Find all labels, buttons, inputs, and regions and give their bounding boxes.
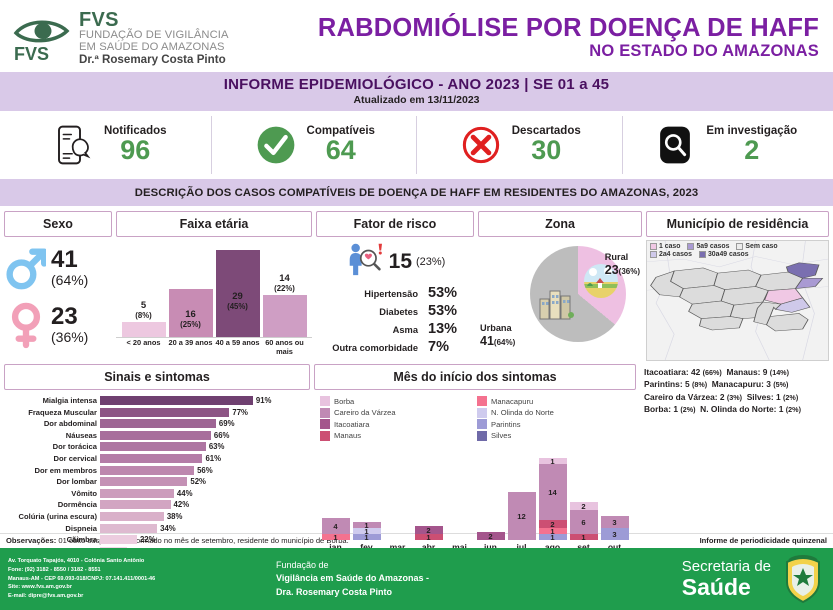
faixa-bar-column: 29(45%)	[216, 240, 260, 337]
stats-row: Notificados 96 Compatíveis 64	[0, 111, 833, 179]
section-bar-text: DESCRIÇÃO DOS CASOS COMPATÍVEIS DE DOENÇ…	[135, 187, 699, 199]
panel-fator-risco: Fator de risco 15 (	[316, 211, 474, 361]
panel-sintomas-title: Sinais e sintomas	[104, 370, 210, 384]
sintoma-row: Dor torácica63%	[4, 441, 308, 452]
fator-item-value: 13%	[428, 321, 470, 337]
fator-item: Hipertensão53%	[320, 285, 470, 301]
faixa-bar-percent: (22%)	[263, 284, 307, 293]
municipio-total-percent: (8%)	[692, 380, 707, 389]
faixa-bar: 29(45%)	[216, 250, 260, 337]
legend-swatch	[650, 251, 657, 258]
faixa-bar-value: 14	[263, 273, 307, 284]
mes-bar-segment: 12	[508, 492, 536, 540]
sintoma-value: 38%	[167, 512, 183, 521]
male-symbol-icon	[4, 242, 48, 294]
legend-label: Manacapuru	[491, 397, 533, 406]
sintoma-value: 34%	[160, 524, 176, 533]
fator-item-value: 53%	[428, 303, 470, 319]
mes-legend-item: Manaus	[320, 431, 477, 441]
sintoma-bar	[100, 454, 202, 463]
panel-faixa-etaria: Faixa etária 5(8%)16(25%)29(45%)14(22%) …	[116, 211, 312, 361]
sintoma-value: 52%	[190, 477, 206, 486]
municipio-total-item: Borba: 1 (2%)	[644, 404, 696, 414]
panel-municipio-body: 1 caso5a9 casosSem caso2a4 casos30a49 ca…	[646, 240, 829, 361]
panel-mes-title: Mês do início dos sintomas	[393, 370, 556, 384]
faixa-bar: 14(22%)	[263, 295, 307, 337]
sintoma-value: 91%	[256, 396, 272, 405]
panel-fator-header: Fator de risco	[316, 211, 474, 237]
zona-rural-label: Rural 23(36%)	[605, 252, 640, 278]
sintoma-bar	[100, 466, 194, 475]
map-legend: 1 caso5a9 casosSem caso2a4 casos30a49 ca…	[650, 243, 825, 259]
stat-compativeis: Compatíveis 64	[212, 116, 418, 174]
municipio-total-percent: (66%)	[703, 368, 722, 377]
zona-chart: Rural 23(36%) Urbana 41(64%)	[478, 240, 642, 361]
mes-bar-segment: 1	[539, 534, 567, 540]
sintoma-label: Dor em membros	[4, 466, 100, 475]
municipio-total-item: Parintins: 5 (8%)	[644, 379, 707, 389]
sintoma-value: 22%	[140, 535, 156, 544]
footer-address: Av. Torquato Tapajós, 4010 - Colônia San…	[8, 557, 258, 600]
sintoma-value: 66%	[214, 431, 230, 440]
faixa-bar-column: 16(25%)	[169, 240, 213, 337]
legend-swatch	[477, 419, 487, 429]
faixa-bar-percent: (8%)	[122, 311, 166, 320]
panel-sintomas-header: Sinais e sintomas	[4, 364, 310, 390]
municipio-map: 1 caso5a9 casosSem caso2a4 casos30a49 ca…	[646, 240, 829, 361]
sintoma-label: Mialgia intensa	[4, 396, 100, 405]
informe-updated: Atualizado em 13/11/2023	[0, 94, 833, 106]
mes-bar-segment: 1	[322, 534, 350, 540]
map-legend-item: 30a49 casos	[699, 251, 749, 258]
secretaria-logo: Secretaria de Saúde	[682, 559, 781, 599]
sintoma-row: Dor cervical61%	[4, 453, 308, 464]
municipio-total-item: N. Olinda do Norte: 1 (2%)	[700, 404, 801, 414]
footer-org: Fundação de Vigilância em Saúde do Amazo…	[258, 559, 682, 600]
legend-label: 2a4 casos	[659, 251, 692, 258]
faixa-bar-value: 16	[169, 309, 213, 320]
sintoma-label: Colúria (urina escura)	[4, 512, 100, 521]
sintoma-row: Dormência42%	[4, 499, 308, 510]
legend-label: N. Olinda do Norte	[491, 408, 554, 417]
sintoma-value: 77%	[232, 408, 248, 417]
sintoma-row: Fraqueza Muscular77%	[4, 407, 308, 418]
panel-faixa-header: Faixa etária	[116, 211, 312, 237]
mes-bar-segment: 3	[601, 528, 629, 540]
faixa-bar: 16(25%)	[169, 289, 213, 337]
legend-label: 30a49 casos	[708, 251, 749, 258]
fvs-line3: Dr.ª Rosemary Costa Pinto	[79, 54, 229, 66]
sintoma-value: 69%	[219, 419, 235, 428]
fator-item-value: 53%	[428, 285, 470, 301]
panel-fator-title: Fator de risco	[354, 217, 437, 231]
sintoma-bar	[100, 512, 164, 521]
fator-item-name: Outra comorbidade	[332, 343, 418, 353]
panel-mes-header: Mês do início dos sintomas	[314, 364, 636, 390]
sexo-male-count: 41	[51, 248, 88, 272]
fator-total-percent: (23%)	[416, 256, 445, 268]
sexo-female-percent: (36%)	[51, 329, 88, 345]
sintoma-label: Náuseas	[4, 431, 100, 440]
municipio-total-percent: (2%)	[783, 393, 798, 402]
legend-swatch	[477, 396, 487, 406]
sexo-female-count: 23	[51, 305, 88, 329]
legend-swatch	[320, 396, 330, 406]
sexo-male-percent: (64%)	[51, 272, 88, 288]
footer-org-line1: Fundação de	[276, 559, 682, 573]
risk-person-icon	[345, 242, 385, 281]
faixa-axis-label: 40 a 59 anos	[214, 339, 261, 356]
sintoma-label: Cãimbra	[4, 535, 100, 544]
panel-municipio-header: Município de residência	[646, 211, 829, 237]
informe-bar: INFORME EPIDEMIOLÓGICO - ANO 2023 | SE 0…	[0, 72, 833, 111]
legend-label: Careiro da Várzea	[334, 408, 396, 417]
check-circle-icon	[253, 122, 299, 168]
zona-rural-count: 23	[605, 263, 619, 277]
sintoma-bar	[100, 431, 211, 440]
stat-notificados: Notificados 96	[6, 116, 212, 174]
stat-em-investigacao: Em investigação 2	[623, 116, 828, 174]
municipio-total-line: Itacoatiara: 42 (66%) Manaus: 9 (14%)	[644, 366, 827, 378]
panel-sexo: Sexo 41 (64%)	[4, 211, 112, 361]
sintoma-label: Dor abdominal	[4, 419, 100, 428]
fator-item: Asma13%	[320, 321, 470, 337]
map-legend-item: 2a4 casos	[650, 251, 692, 258]
footer-address-line: Site: www.fvs.am.gov.br	[8, 583, 258, 592]
page-footer: Av. Torquato Tapajós, 4010 - Colônia San…	[0, 548, 833, 610]
mes-bar-column: 33	[601, 442, 629, 540]
mes-bar-segment: 14	[539, 464, 567, 520]
fator-item-value: 7%	[428, 339, 470, 355]
faixa-bars: 5(8%)16(25%)29(45%)14(22%)	[116, 240, 312, 338]
footer-org-line2: Vigilância em Saúde do Amazonas -	[276, 573, 429, 583]
sintoma-bar	[100, 489, 174, 498]
sintoma-row: Dor em membros56%	[4, 465, 308, 476]
sintoma-value: 42%	[174, 500, 190, 509]
sintoma-value: 63%	[209, 442, 225, 451]
municipio-total-item: Manaus: 9 (14%)	[727, 367, 789, 377]
mes-bar-column: 111	[353, 442, 381, 540]
zona-urbana-percent: (64%)	[494, 338, 515, 347]
map-legend-item: 5a9 casos	[687, 243, 729, 250]
footer-address-line: Manaus-AM - CEP 69.093-018/CNPJ: 07.141.…	[8, 575, 258, 584]
stat-value: 96	[104, 137, 167, 165]
panel-sintomas: Sinais e sintomas Mialgia intensa91%Fraq…	[4, 364, 310, 533]
panels-row-1: Sexo 41 (64%)	[0, 206, 833, 361]
periodicidade-text: Informe de periodicidade quinzenal	[700, 536, 827, 545]
sintoma-bar	[100, 396, 253, 405]
municipio-total-percent: (2%)	[680, 405, 695, 414]
fvs-logo-text: FVS FUNDAÇÃO DE VIGILÂNCIA EM SAÚDE DO A…	[79, 10, 229, 66]
legend-label: 1 caso	[659, 243, 680, 250]
panel-faixa-title: Faixa etária	[180, 217, 249, 231]
fvs-line2: EM SAÚDE DO AMAZONAS	[79, 42, 229, 53]
mes-bar-column	[384, 442, 412, 540]
legend-label: Manaus	[334, 431, 361, 440]
secretaria-line2: Saúde	[682, 575, 771, 599]
sintoma-label: Dor lombar	[4, 477, 100, 486]
mes-bar-column	[446, 442, 474, 540]
legend-swatch	[477, 408, 487, 418]
sintoma-label: Dor cervical	[4, 454, 100, 463]
municipio-total-percent: (2%)	[786, 405, 801, 414]
fator-item: Outra comorbidade7%	[320, 339, 470, 355]
map-legend-item: 1 caso	[650, 243, 680, 250]
footer-address-line: E-mail: dipre@fvs.am.gov.br	[8, 592, 258, 601]
svg-text:FVS: FVS	[14, 44, 49, 64]
fator-item-name: Asma	[393, 325, 418, 335]
mes-legend-item: Itacoatiara	[320, 419, 477, 429]
panel-municipio-title: Município de residência	[667, 217, 809, 231]
sexo-female-row: 23 (36%)	[4, 297, 112, 354]
mes-bar-column: 12	[508, 442, 536, 540]
faixa-bar-value: 29	[216, 291, 260, 302]
sintoma-value: 56%	[197, 466, 213, 475]
legend-label: Itacoatiara	[334, 420, 369, 429]
legend-label: Parintins	[491, 420, 521, 429]
mes-legend-item: Careiro da Várzea	[320, 408, 477, 418]
mes-bar-segment: 1	[415, 534, 443, 540]
infographic-page: FVS FVS FUNDAÇÃO DE VIGILÂNCIA EM SAÚDE …	[0, 0, 833, 586]
legend-label: Borba	[334, 397, 354, 406]
informe-title: INFORME EPIDEMIOLÓGICO - ANO 2023 | SE 0…	[0, 76, 833, 93]
faixa-axis-label: 20 a 39 anos	[167, 339, 214, 356]
sintoma-row: Náuseas66%	[4, 430, 308, 441]
sintoma-bar	[100, 419, 216, 428]
panel-zona-title: Zona	[545, 217, 575, 231]
municipio-total-line: Borba: 1 (2%) N. Olinda do Norte: 1 (2%)	[644, 403, 827, 415]
stat-descartados: Descartados 30	[417, 116, 623, 174]
mes-legend-item: Parintins	[477, 419, 634, 429]
panel-sexo-header: Sexo	[4, 211, 112, 237]
eye-logo-icon: FVS	[12, 12, 72, 64]
faixa-axis-labels: < 20 anos20 a 39 anos40 a 59 anos60 anos…	[116, 338, 312, 356]
mes-legend: BorbaManacapuruCareiro da VárzeaN. Olind…	[314, 393, 636, 442]
sintoma-value: 61%	[205, 454, 221, 463]
mes-bar-segment: 6	[570, 510, 598, 534]
footer-address-line: Fone: (92) 3182 - 8550 / 3182 - 8551	[8, 566, 258, 575]
municipio-total-percent: (14%)	[770, 368, 789, 377]
legend-swatch	[699, 251, 706, 258]
magnifier-icon	[652, 122, 698, 168]
municipio-total-item: Itacoatiara: 42 (66%)	[644, 367, 722, 377]
city-buildings-icon	[538, 285, 574, 321]
panel-mes-sintomas: Mês do início dos sintomas BorbaManacapu…	[314, 364, 636, 533]
fator-total-row: 15 (23%)	[316, 242, 474, 281]
stat-value: 64	[307, 137, 375, 165]
mes-bar-segment: 2	[570, 502, 598, 510]
sintoma-row: Dor lombar52%	[4, 476, 308, 487]
sintoma-label: Dispneia	[4, 524, 100, 533]
mes-bars: 411112121211421126133	[314, 442, 636, 540]
legend-label: Silves	[491, 431, 511, 440]
faixa-bar-column: 14(22%)	[263, 240, 307, 337]
panel-sexo-body: 41 (64%) 23 (36%)	[4, 240, 112, 361]
sintoma-row: Dispneia34%	[4, 523, 308, 534]
mes-bar-column: 2	[477, 442, 505, 540]
secretaria-line1: Secretaria de	[682, 559, 771, 575]
mes-legend-item: Borba	[320, 396, 477, 406]
legend-label: Sem caso	[745, 243, 777, 250]
amazonas-coat-of-arms-icon	[781, 554, 825, 604]
title-main: RABDOMIÓLISE POR DOENÇA DE HAFF	[229, 15, 819, 42]
stat-value: 30	[512, 137, 581, 165]
panel-zona: Zona	[478, 211, 642, 361]
female-symbol-icon	[4, 299, 48, 351]
faixa-chart: 5(8%)16(25%)29(45%)14(22%) < 20 anos20 a…	[116, 240, 312, 361]
municipio-total-line: Parintins: 5 (8%) Manacapuru: 3 (5%)	[644, 378, 827, 390]
fator-list: Hipertensão53%Diabetes53%Asma13%Outra co…	[316, 285, 474, 355]
mes-bar-segment: 1	[353, 534, 381, 540]
municipio-total-percent: (3%)	[727, 393, 742, 402]
mes-legend-item: N. Olinda do Norte	[477, 408, 634, 418]
phone-notification-icon	[50, 122, 96, 168]
legend-swatch	[650, 243, 657, 250]
footer-address-line: Av. Torquato Tapajós, 4010 - Colônia San…	[8, 557, 258, 566]
mes-bar-segment: 1	[570, 534, 598, 540]
faixa-bar-percent: (25%)	[169, 320, 213, 329]
sintoma-label: Vômito	[4, 489, 100, 498]
sintoma-value: 44%	[177, 489, 193, 498]
fator-item-name: Diabetes	[379, 307, 418, 317]
sintoma-bar	[100, 535, 137, 544]
panel-fator-body: 15 (23%) Hipertensão53%Diabetes53%Asma13…	[316, 240, 474, 361]
legend-swatch	[736, 243, 743, 250]
panel-municipio: Município de residência 1 caso5a9 casosS…	[646, 211, 829, 361]
sintoma-label: Dor torácica	[4, 442, 100, 451]
panels-row-2: Sinais e sintomas Mialgia intensa91%Fraq…	[0, 361, 833, 533]
sexo-male-row: 41 (64%)	[4, 240, 112, 297]
footer-org-line3: Dra. Rosemary Costa Pinto	[276, 587, 392, 597]
municipio-total-item: Manacapuru: 3 (5%)	[712, 379, 789, 389]
sintoma-row: Cãimbra22%	[4, 534, 308, 545]
fator-item-name: Hipertensão	[364, 289, 418, 299]
legend-swatch	[477, 431, 487, 441]
sintoma-bar	[100, 524, 157, 533]
legend-label: 5a9 casos	[696, 243, 729, 250]
faixa-bar: 5(8%)	[122, 322, 166, 337]
zona-urbana-count: 41	[480, 334, 494, 348]
title-sub: NO ESTADO DO AMAZONAS	[229, 42, 819, 61]
panel-mes-body: BorbaManacapuruCareiro da VárzeaN. Olind…	[314, 393, 636, 552]
stat-value: 2	[706, 137, 797, 165]
legend-swatch	[320, 419, 330, 429]
sintoma-label: Fraqueza Muscular	[4, 408, 100, 417]
municipio-total-percent: (5%)	[773, 380, 788, 389]
legend-swatch	[687, 243, 694, 250]
faixa-axis-label: 60 anos ou mais	[261, 339, 308, 356]
page-title: RABDOMIÓLISE POR DOENÇA DE HAFF NO ESTAD…	[229, 15, 823, 62]
legend-swatch	[320, 431, 330, 441]
municipio-total-item: Careiro da Várzea: 2 (3%)	[644, 392, 742, 402]
sintomas-chart: Mialgia intensa91%Fraqueza Muscular77%Do…	[4, 393, 310, 557]
fator-item: Diabetes53%	[320, 303, 470, 319]
mes-bar-column: 41	[322, 442, 350, 540]
sintoma-row: Dor abdominal69%	[4, 418, 308, 429]
mes-legend-item: Silves	[477, 431, 634, 441]
sintoma-bar	[100, 477, 187, 486]
page-header: FVS FVS FUNDAÇÃO DE VIGILÂNCIA EM SAÚDE …	[0, 0, 833, 72]
zona-urbana-label: Urbana 41(64%)	[480, 323, 515, 349]
map-legend-item: Sem caso	[736, 243, 777, 250]
municipio-total-item: Silves: 1 (2%)	[747, 392, 799, 402]
municipio-total-line: Careiro da Várzea: 2 (3%) Silves: 1 (2%)	[644, 391, 827, 403]
faixa-bar-value: 5	[122, 300, 166, 311]
mes-bar-segment: 2	[477, 532, 505, 540]
mes-bar-segment: 3	[601, 516, 629, 528]
fator-total-value: 15	[389, 250, 412, 274]
sintoma-bar	[100, 442, 206, 451]
mes-bar-column: 114211	[539, 442, 567, 540]
fvs-logo: FVS FVS FUNDAÇÃO DE VIGILÂNCIA EM SAÚDE …	[12, 10, 229, 66]
sintoma-bar	[100, 408, 229, 417]
zona-rural-name: Rural	[605, 252, 640, 263]
faixa-bar-column: 5(8%)	[122, 240, 166, 337]
sintoma-label: Dormência	[4, 500, 100, 509]
faixa-axis-label: < 20 anos	[120, 339, 167, 356]
section-bar: DESCRIÇÃO DOS CASOS COMPATÍVEIS DE DOENÇ…	[0, 179, 833, 206]
x-circle-icon	[458, 122, 504, 168]
panel-zona-header: Zona	[478, 211, 642, 237]
mes-legend-item: Manacapuru	[477, 396, 634, 406]
sintoma-row: Mialgia intensa91%	[4, 395, 308, 406]
fvs-acronym: FVS	[79, 10, 229, 30]
zona-rural-percent: (36%)	[619, 267, 640, 276]
sintoma-row: Vômito44%	[4, 488, 308, 499]
sintoma-row: Colúria (urina escura)38%	[4, 511, 308, 522]
mes-bar-column: 21	[415, 442, 443, 540]
faixa-bar-percent: (45%)	[216, 302, 260, 311]
zona-urbana-name: Urbana	[480, 323, 515, 334]
panel-sexo-title: Sexo	[43, 217, 73, 231]
panel-municipio-totals: Itacoatiara: 42 (66%) Manaus: 9 (14%) Pa…	[640, 364, 829, 533]
legend-swatch	[320, 408, 330, 418]
municipio-totals-list: Itacoatiara: 42 (66%) Manaus: 9 (14%) Pa…	[640, 364, 829, 416]
mes-bar-column: 261	[570, 442, 598, 540]
sintoma-bar	[100, 500, 171, 509]
